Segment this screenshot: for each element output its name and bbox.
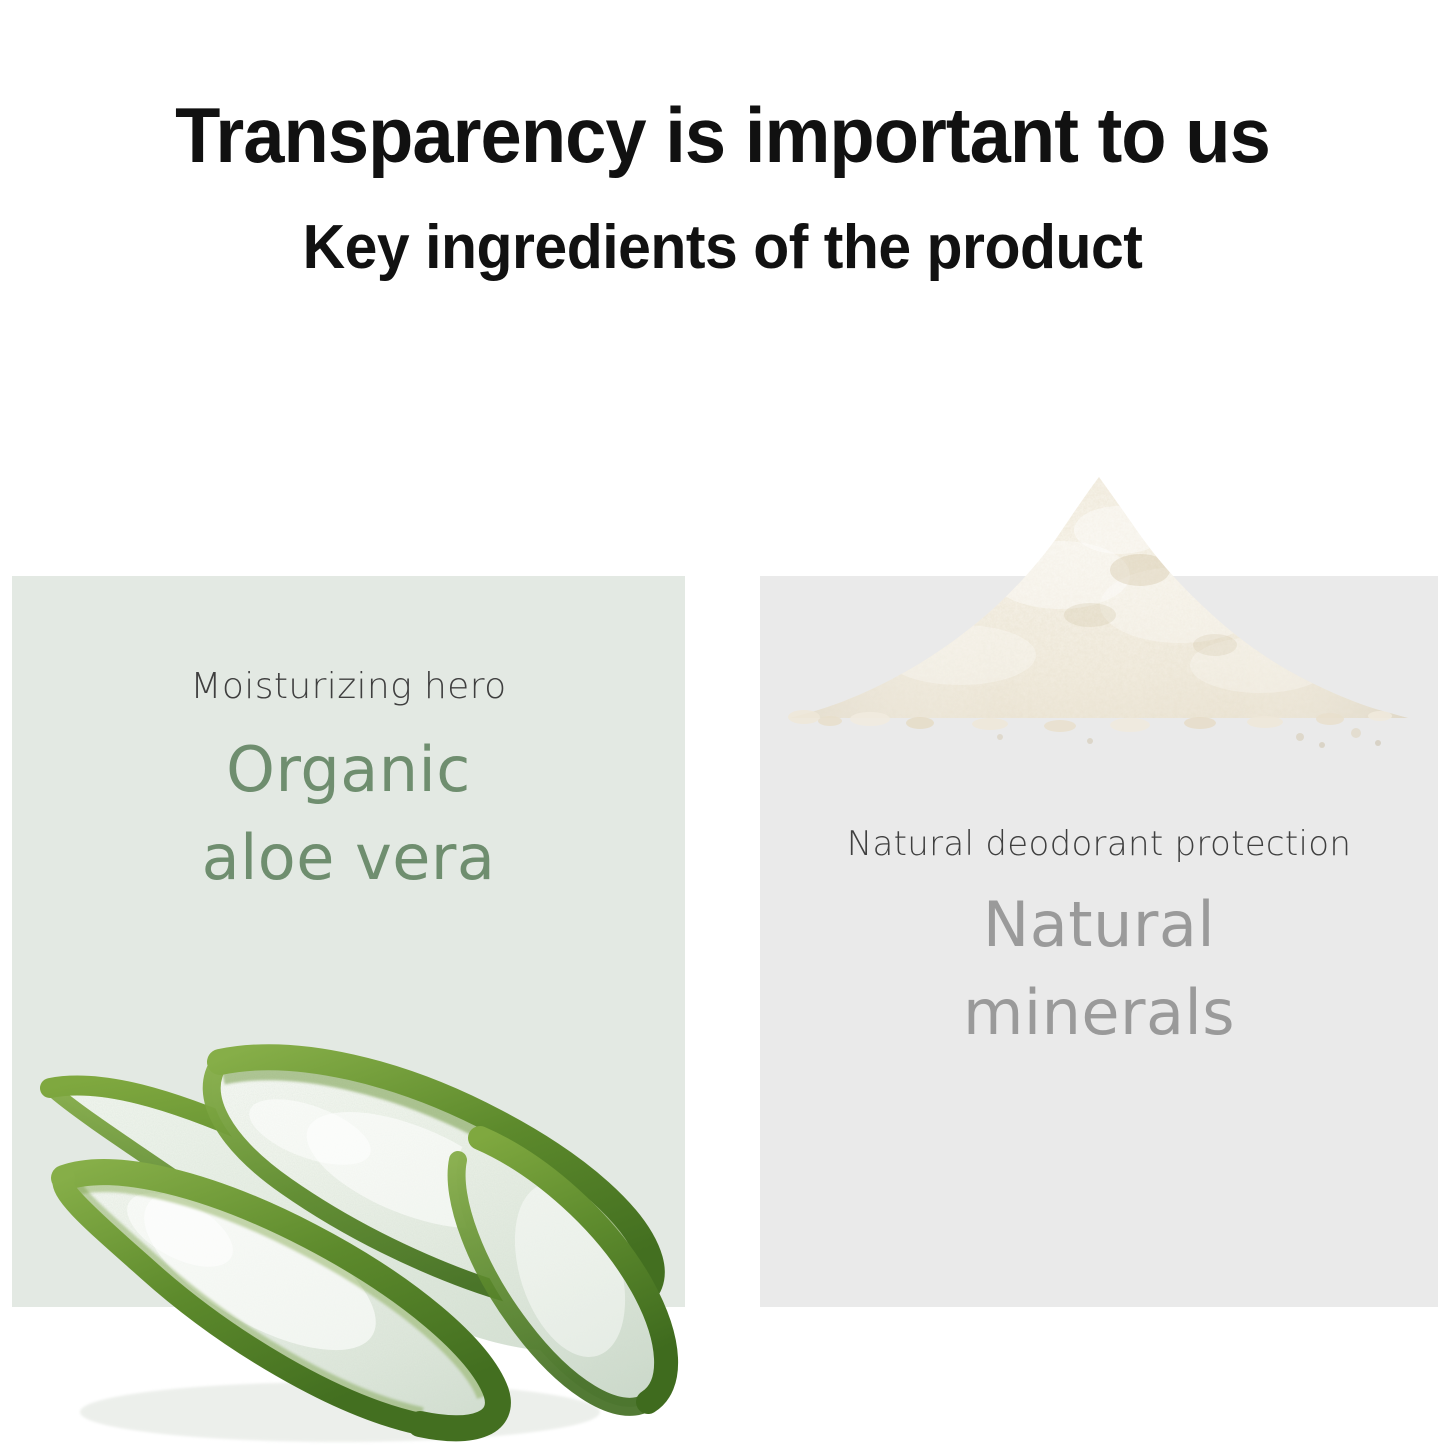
card-kicker-aloe: Moisturizing hero [12,666,685,707]
card-headline-line2-minerals: minerals [760,969,1438,1057]
ingredient-card-aloe: Moisturizing hero Organic aloe vera [12,576,685,1307]
card-headline-line1-minerals: Natural [760,881,1438,969]
card-headline-minerals: Natural minerals [760,881,1438,1057]
page-title: Transparency is important to us [36,92,1409,178]
ingredients-infographic: Transparency is important to us Key ingr… [0,0,1445,1445]
card-kicker-minerals: Natural deodorant protection [760,824,1438,864]
card-headline-line2-aloe: aloe vera [12,814,685,902]
ingredient-card-minerals: Natural deodorant protection Natural min… [760,576,1438,1307]
card-headline-aloe: Organic aloe vera [12,726,685,902]
card-headline-line1-aloe: Organic [12,726,685,814]
page-subtitle: Key ingredients of the product [36,212,1409,284]
